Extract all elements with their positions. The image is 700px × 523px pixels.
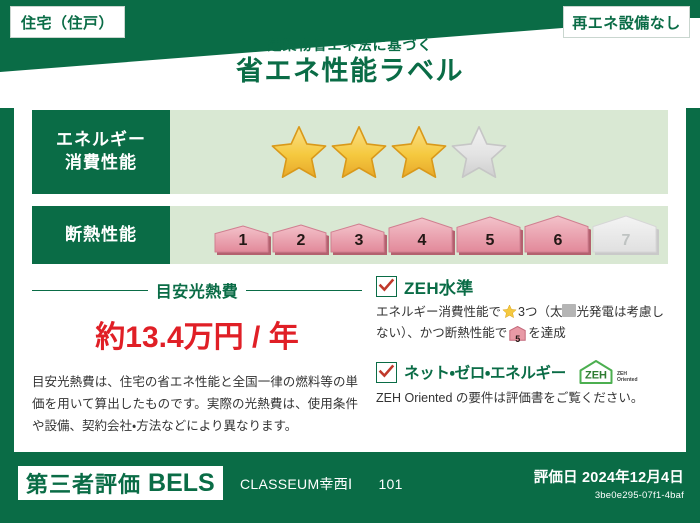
- unit-number: 101: [378, 476, 402, 492]
- house-empty-icon: [592, 214, 660, 256]
- zeh-standard-head: ZEH水準: [376, 274, 668, 299]
- project-info: CLASSEUM幸西Ⅰ101: [240, 474, 403, 494]
- zeh-oriented-logo-line2: Oriented: [617, 377, 638, 383]
- house-filled-icon: [214, 224, 272, 256]
- label-card: エネルギー 消費性能 断熱性能 1234567 目安光熱費: [14, 92, 686, 452]
- house-filled-icon: [456, 215, 524, 256]
- page-title: 省エネ性能ラベル: [0, 56, 700, 87]
- zeh-standard-title: ZEH水準: [404, 274, 474, 299]
- house-filled-icon: [272, 223, 330, 256]
- house-filled-icon: [388, 216, 456, 256]
- star-filled-icon: [270, 124, 328, 180]
- net-zero-energy-checkbox[interactable]: [376, 362, 397, 383]
- evaluation-date-block: 評価日 2024年12月4日 3be0e295-07f1-4baf: [534, 466, 684, 501]
- zeh-oriented-logo-caption: ZEH Oriented: [617, 371, 638, 386]
- net-zero-energy-block: ネット・ゼロ・エネルギー ZEH ZEH Oriented: [376, 359, 668, 409]
- utility-cost-heading-text: 目安光熱費: [156, 278, 239, 302]
- footer-bar: 第三者評価 BELS CLASSEUM幸西Ⅰ101 評価日 2024年12月4日…: [0, 452, 700, 523]
- net-zero-energy-title: ネット・ゼロ・エネルギー: [404, 361, 566, 383]
- star-filled-icon: [330, 124, 388, 180]
- renewable-equipment-tag: 再エネ設備なし: [563, 6, 690, 38]
- heading-rule-right: [246, 290, 362, 291]
- insulation-grade-2: 2: [272, 223, 330, 256]
- zeh-desc-part3: を達成: [528, 326, 566, 340]
- zeh-desc-part1: エネルギー消費性能で: [376, 305, 501, 319]
- utility-cost-heading: 目安光熱費: [32, 278, 362, 302]
- inline-star-icon: [502, 304, 517, 319]
- document-id: 3be0e295-07f1-4baf: [534, 490, 684, 501]
- zeh-standard-description: エネルギー消費性能で 3つ（太陽光発電は考慮しない）、かつ断熱性能で 5 を達成: [376, 302, 668, 347]
- insulation-grade-scale: 1234567: [214, 214, 660, 256]
- building-type-tag-label: 住宅（住戸）: [21, 12, 114, 33]
- building-type-tag: 住宅（住戸）: [10, 6, 125, 38]
- bels-badge-jp: 第三者評価: [26, 467, 141, 499]
- star-filled-icon: [390, 124, 448, 180]
- house-filled-icon: [330, 222, 388, 256]
- zeh-desc-star-count: 3つ（太: [518, 305, 562, 319]
- energy-performance-body: [170, 110, 668, 194]
- house-filled-icon: [524, 214, 592, 256]
- insulation-grade-4: 4: [388, 216, 456, 256]
- energy-performance-label-line1: エネルギー: [56, 129, 146, 152]
- inline-insulation-badge-number: 5: [509, 332, 526, 347]
- inline-insulation-badge: 5: [509, 326, 526, 348]
- star-rating: [270, 124, 508, 180]
- heading-rule-left: [32, 290, 148, 291]
- check-icon: [378, 277, 395, 294]
- evaluation-date: 評価日 2024年12月4日: [534, 466, 684, 487]
- zeh-column: ZEH水準 エネルギー消費性能で 3つ（太陽光発電は考慮しない）、かつ断熱性能で…: [362, 274, 668, 434]
- check-icon: [378, 363, 395, 380]
- zeh-house-logo-icon: ZEH: [577, 359, 615, 385]
- bels-badge-brand: BELS: [148, 469, 215, 498]
- title-group: 建築物省エネ法に基づく 省エネ性能ラベル: [0, 38, 700, 87]
- zeh-standard-checkbox[interactable]: [376, 276, 397, 297]
- bels-badge: 第三者評価 BELS: [18, 466, 223, 500]
- insulation-grade-3: 3: [330, 222, 388, 256]
- insulation-performance-label-text: 断熱性能: [65, 224, 137, 247]
- insulation-grade-6: 6: [524, 214, 592, 256]
- svg-text:ZEH: ZEH: [585, 370, 607, 382]
- insulation-grade-1: 1: [214, 224, 272, 256]
- star-empty-icon: [450, 124, 508, 180]
- insulation-performance-label: 断熱性能: [32, 206, 170, 264]
- title-subtitle: 建築物省エネ法に基づく: [0, 38, 700, 52]
- utility-cost-column: 目安光熱費 約13.4万円 / 年 目安光熱費は、住宅の省エネ性能と全国一律の燃…: [32, 274, 362, 434]
- obscured-character: 陽: [562, 304, 576, 317]
- net-zero-energy-head: ネット・ゼロ・エネルギー ZEH ZEH Oriented: [376, 359, 668, 385]
- utility-cost-note: 目安光熱費は、住宅の省エネ性能と全国一律の燃料等の単価を用いて算出したものです。…: [32, 372, 362, 438]
- zeh-oriented-logo-line1: ZEH: [617, 371, 627, 377]
- zeh-oriented-logo: ZEH ZEH Oriented: [577, 359, 638, 385]
- insulation-grade-5: 5: [456, 215, 524, 256]
- energy-performance-row: エネルギー 消費性能: [32, 110, 668, 194]
- bels-energy-label: 住宅（住戸） 再エネ設備なし 建築物省エネ法に基づく 省エネ性能ラベル エネルギ…: [0, 0, 700, 523]
- insulation-performance-row: 断熱性能 1234567: [32, 206, 668, 264]
- energy-performance-label: エネルギー 消費性能: [32, 110, 170, 194]
- utility-cost-value: 約13.4万円 / 年: [32, 312, 362, 356]
- project-name: CLASSEUM幸西Ⅰ: [240, 476, 352, 492]
- net-zero-energy-description: ZEH Oriented の要件は評価書をご覧ください。: [376, 388, 668, 409]
- insulation-performance-body: 1234567: [170, 206, 668, 264]
- renewable-equipment-tag-label: 再エネ設備なし: [572, 12, 681, 33]
- energy-performance-label-line2: 消費性能: [65, 152, 137, 175]
- lower-section: 目安光熱費 約13.4万円 / 年 目安光熱費は、住宅の省エネ性能と全国一律の燃…: [32, 274, 668, 434]
- insulation-grade-7: 7: [592, 214, 660, 256]
- zeh-standard-block: ZEH水準 エネルギー消費性能で 3つ（太陽光発電は考慮しない）、かつ断熱性能で…: [376, 274, 668, 347]
